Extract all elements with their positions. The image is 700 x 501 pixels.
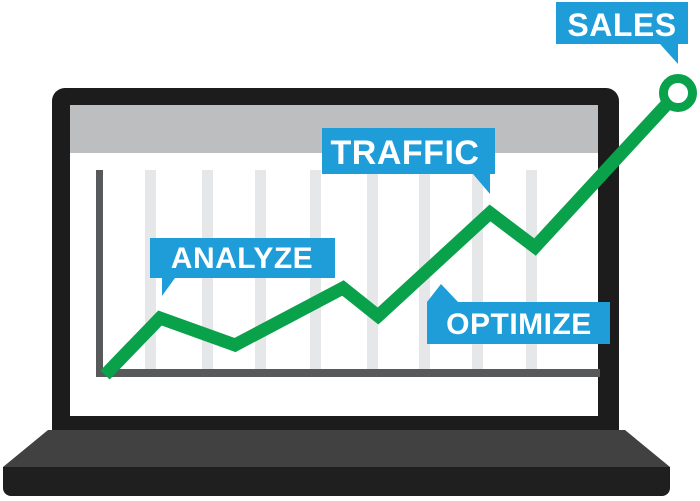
chart-x-axis	[96, 369, 600, 377]
callout-optimize-label: OPTIMIZE	[446, 308, 592, 341]
callout-analyze-label: ANALYZE	[171, 242, 313, 275]
callout-sales[interactable]: SALES	[556, 2, 688, 64]
callout-sales-label: SALES	[567, 7, 676, 43]
callout-traffic-label: TRAFFIC	[331, 134, 480, 172]
illustration-canvas: ANALYZE TRAFFIC OPTIMIZE SALES	[0, 0, 700, 501]
magnifier-lens-ring	[664, 79, 693, 108]
chart-y-axis	[96, 170, 103, 376]
laptop-base	[3, 430, 670, 496]
magnifying-glass-icon	[664, 79, 693, 108]
chart-bar	[367, 170, 378, 370]
laptop-base-top	[3, 430, 670, 467]
laptop-base-bottom	[3, 467, 670, 496]
analytics-laptop-illustration: ANALYZE TRAFFIC OPTIMIZE SALES	[0, 0, 700, 501]
